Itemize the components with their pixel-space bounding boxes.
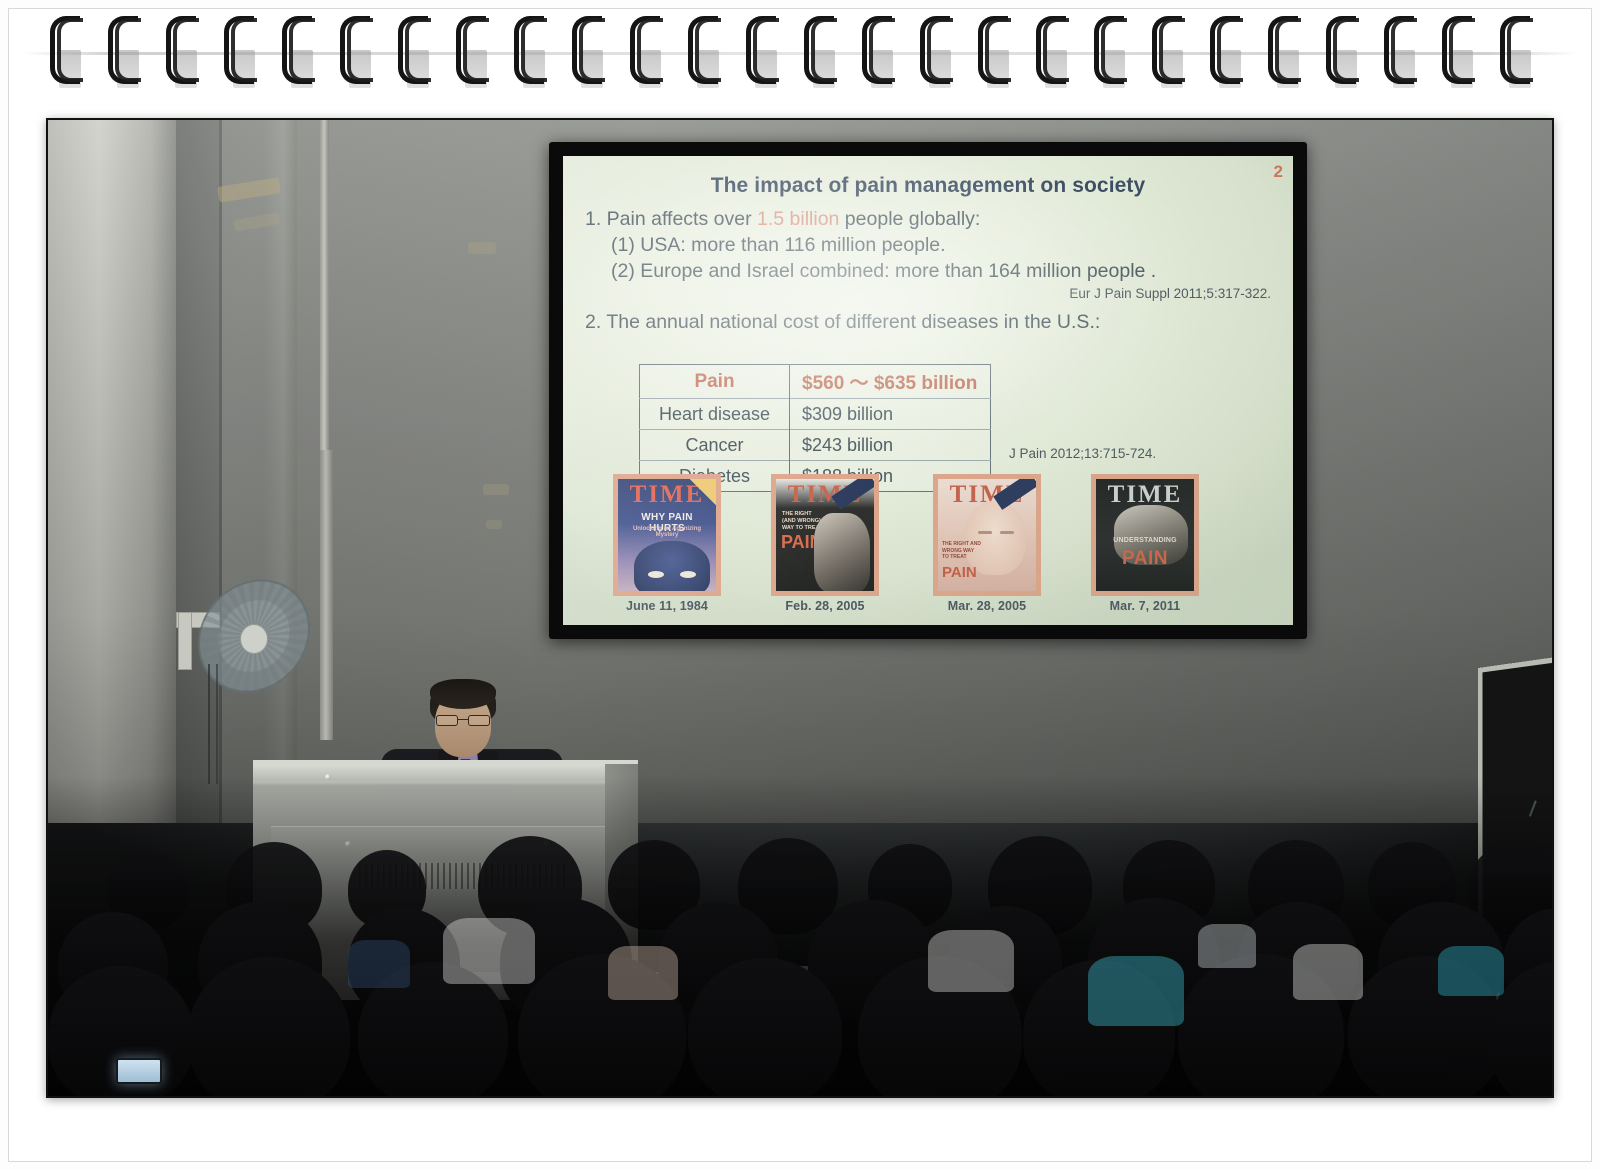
binding-ring — [1442, 16, 1474, 88]
binding-ring — [688, 16, 720, 88]
cover-date-caption: Mar. 7, 2011 — [1091, 599, 1199, 613]
binding-ring — [572, 16, 604, 88]
bullet-1-suffix: people globally: — [839, 208, 980, 230]
wall-pipe — [320, 120, 329, 460]
audience-clothing — [348, 940, 410, 988]
wall-fan-icon — [176, 572, 306, 702]
binding-ring — [1094, 16, 1126, 88]
cover-headline: PAIN — [1100, 549, 1190, 569]
table-cell-cost: $560 ～ $635 billion — [790, 365, 991, 399]
binding-ring — [340, 16, 372, 88]
cover-subhead: THE RIGHT AND WRONG WAY TO TREAT — [942, 541, 982, 561]
magazine-cover: TIMEWHY PAIN HURTSUnlocking an Agonizing… — [613, 474, 721, 613]
wall-pipe-lower — [320, 450, 333, 740]
table-cell-disease: Cancer — [640, 430, 790, 461]
photograph-frame: 2 The impact of pain management on socie… — [46, 118, 1554, 1098]
binding-ring — [1500, 16, 1532, 88]
binding-ring — [1036, 16, 1068, 88]
audience-member — [688, 958, 842, 1096]
binding-ring — [804, 16, 836, 88]
cover-subhead: UNDERSTANDING — [1100, 537, 1190, 544]
audience-clothing — [1293, 944, 1363, 1000]
binding-ring — [224, 16, 256, 88]
binding-ring — [862, 16, 894, 88]
binding-ring — [398, 16, 430, 88]
table-cell-disease: Heart disease — [640, 399, 790, 430]
bullet-1-prefix: 1. Pain affects over — [585, 208, 757, 230]
wall-stain — [468, 242, 496, 254]
magazine-cover: TIMEUNDERSTANDINGPAINMar. 7, 2011 — [1091, 474, 1199, 613]
slide-bullet-1-sub-2: (2) Europe and Israel combined: more tha… — [611, 259, 1279, 285]
table-cell-cost: $309 billion — [790, 399, 991, 430]
bullet-1-highlight: 1.5 billion — [757, 208, 839, 230]
phone-screen — [116, 1058, 162, 1084]
binding-ring — [978, 16, 1010, 88]
cover-date-caption: June 11, 1984 — [613, 599, 721, 613]
audience-clothing — [1088, 956, 1184, 1026]
audience-clothing — [608, 946, 678, 1000]
audience — [48, 776, 1552, 1096]
binding-ring — [1152, 16, 1184, 88]
slide-bullet-2: 2. The annual national cost of different… — [585, 311, 1279, 334]
projection-screen-bezel: 2 The impact of pain management on socie… — [549, 142, 1307, 639]
magazine-cover-image: TIMETHE RIGHT AND WRONG WAY TO TREATPAIN — [933, 474, 1041, 596]
binding-ring — [920, 16, 952, 88]
magazine-cover-image: TIMEUNDERSTANDINGPAIN — [1091, 474, 1199, 596]
binding-ring — [108, 16, 140, 88]
magazine-cover: TIMETHE RIGHT (AND WRONG) WAY TO TREATPA… — [771, 474, 879, 613]
slide-citation-2: J Pain 2012;13:715-724. — [1009, 446, 1156, 461]
binding-ring — [166, 16, 198, 88]
table-row: Cancer$243 billion — [640, 430, 991, 461]
table-cell-cost: $243 billion — [790, 430, 991, 461]
lecture-hall-photo: 2 The impact of pain management on socie… — [48, 120, 1552, 1096]
magazine-cover: TIMETHE RIGHT AND WRONG WAY TO TREATPAIN… — [933, 474, 1041, 613]
slide-title: The impact of pain management on society — [577, 174, 1279, 198]
binding-ring — [1384, 16, 1416, 88]
audience-clothing — [1438, 946, 1504, 996]
cover-date-caption: Feb. 28, 2005 — [771, 599, 879, 613]
audience-clothing — [443, 918, 535, 984]
binding-ring — [514, 16, 546, 88]
wall-stain — [486, 520, 502, 529]
slide-citation-1: Eur J Pain Suppl 2011;5:317-322. — [577, 286, 1271, 301]
binding-ring — [1210, 16, 1242, 88]
glasses-icon — [436, 715, 490, 726]
binding-ring — [1326, 16, 1358, 88]
magazine-cover-image: TIMEWHY PAIN HURTSUnlocking an Agonizing… — [613, 474, 721, 596]
notebook-page: (function(){ var s = document.getElement… — [0, 0, 1600, 1170]
binding-ring — [1268, 16, 1300, 88]
cover-subhead: Unlocking an Agonizing Mystery — [622, 526, 712, 539]
binding-ring — [282, 16, 314, 88]
table-cell-disease: Pain — [640, 365, 790, 399]
cover-headline: PAIN — [942, 565, 977, 581]
table-row: Heart disease$309 billion — [640, 399, 991, 430]
slide-number: 2 — [1274, 162, 1283, 182]
table-row: Pain$560 ～ $635 billion — [640, 365, 991, 399]
slide-bullet-1: 1. Pain affects over 1.5 billion people … — [585, 207, 1279, 233]
binding-ring — [50, 16, 82, 88]
audience-clothing — [1198, 924, 1256, 968]
wall-stain — [483, 484, 509, 495]
presenter-hair-top — [430, 679, 496, 709]
disease-cost-table: Pain$560 ～ $635 billionHeart disease$309… — [639, 364, 991, 492]
cover-masthead: TIME — [1096, 482, 1194, 507]
spiral-binding: (function(){ var s = document.getElement… — [0, 0, 1600, 108]
binding-ring — [456, 16, 488, 88]
cover-date-caption: Mar. 28, 2005 — [933, 599, 1041, 613]
binding-ring — [746, 16, 778, 88]
slide-bullet-1-sub-1: (1) USA: more than 116 million people. — [611, 233, 1279, 259]
audience-clothing — [928, 930, 1014, 992]
projected-slide: 2 The impact of pain management on socie… — [563, 156, 1293, 625]
magazine-cover-image: TIMETHE RIGHT (AND WRONG) WAY TO TREATPA… — [771, 474, 879, 596]
binding-ring — [630, 16, 662, 88]
magazine-covers-row: TIMEWHY PAIN HURTSUnlocking an Agonizing… — [613, 474, 1253, 624]
